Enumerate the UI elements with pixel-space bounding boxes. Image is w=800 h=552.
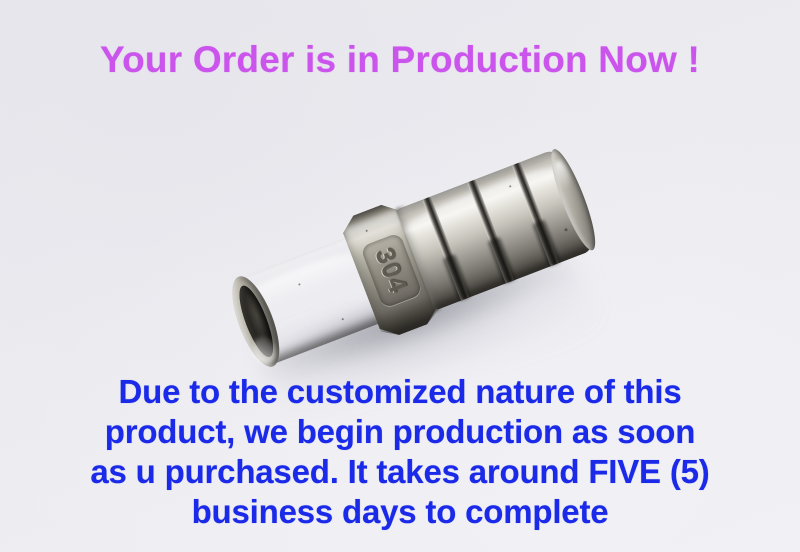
notice-line: Due to the customized nature of this (0, 372, 800, 412)
notice-line: business days to complete (0, 492, 800, 532)
production-notice-text: Due to the customized nature of this pro… (0, 372, 800, 532)
headline-text: Your Order is in Production Now ! (0, 38, 800, 82)
notice-line: as u purchased. It takes around FIVE (5) (0, 452, 800, 492)
product-photo: 304 (232, 150, 596, 372)
notice-line: product, we begin production as soon (0, 412, 800, 452)
notice-image: Your Order is in Production Now ! 304 (0, 0, 800, 552)
